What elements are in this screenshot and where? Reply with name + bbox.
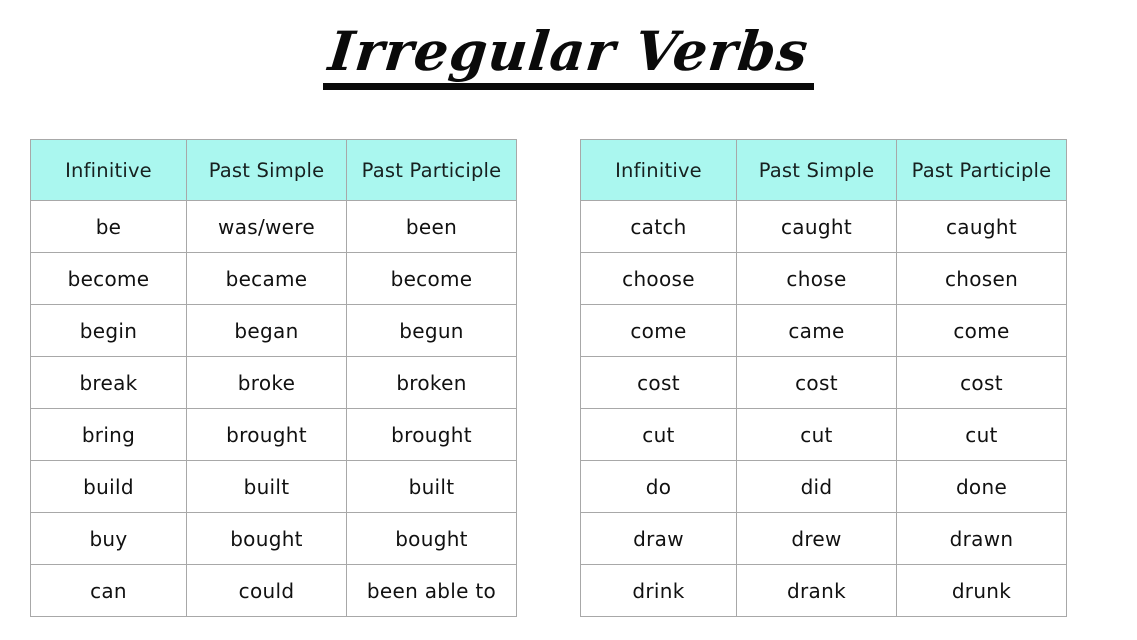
cell-past-simple: did xyxy=(737,461,897,513)
cell-past-participle: become xyxy=(347,253,517,305)
table-row: can could been able to xyxy=(31,565,517,617)
cell-infinitive: can xyxy=(31,565,187,617)
column-header-past-participle: Past Participle xyxy=(347,140,517,201)
table-row: cost cost cost xyxy=(581,357,1067,409)
table-row: cut cut cut xyxy=(581,409,1067,461)
page-title-underline xyxy=(323,83,814,90)
cell-past-simple: bought xyxy=(187,513,347,565)
cell-past-participle: drunk xyxy=(897,565,1067,617)
cell-past-simple: cut xyxy=(737,409,897,461)
table-row: break broke broken xyxy=(31,357,517,409)
cell-infinitive: cost xyxy=(581,357,737,409)
table-row: begin began begun xyxy=(31,305,517,357)
page-title-text: Irregular Verbs xyxy=(326,24,811,79)
cell-past-participle: brought xyxy=(347,409,517,461)
cell-infinitive: drink xyxy=(581,565,737,617)
cell-infinitive: begin xyxy=(31,305,187,357)
table-row: buy bought bought xyxy=(31,513,517,565)
cell-past-participle: cost xyxy=(897,357,1067,409)
cell-past-simple: cost xyxy=(737,357,897,409)
table-row: choose chose chosen xyxy=(581,253,1067,305)
cell-past-participle: built xyxy=(347,461,517,513)
cell-past-simple: drew xyxy=(737,513,897,565)
cell-past-participle: been able to xyxy=(347,565,517,617)
cell-past-participle: been xyxy=(347,201,517,253)
table-row: be was/were been xyxy=(31,201,517,253)
cell-past-simple: was/were xyxy=(187,201,347,253)
verb-tables-container: Infinitive Past Simple Past Participle b… xyxy=(0,139,1137,599)
table-row: drink drank drunk xyxy=(581,565,1067,617)
cell-past-participle: drawn xyxy=(897,513,1067,565)
verb-table-left: Infinitive Past Simple Past Participle b… xyxy=(30,139,517,617)
table-header-row: Infinitive Past Simple Past Participle xyxy=(31,140,517,201)
cell-infinitive: break xyxy=(31,357,187,409)
column-header-infinitive: Infinitive xyxy=(581,140,737,201)
cell-past-participle: bought xyxy=(347,513,517,565)
cell-infinitive: do xyxy=(581,461,737,513)
cell-past-simple: built xyxy=(187,461,347,513)
cell-past-participle: done xyxy=(897,461,1067,513)
cell-infinitive: cut xyxy=(581,409,737,461)
cell-past-simple: could xyxy=(187,565,347,617)
cell-past-participle: broken xyxy=(347,357,517,409)
cell-past-simple: drank xyxy=(737,565,897,617)
cell-infinitive: catch xyxy=(581,201,737,253)
cell-infinitive: come xyxy=(581,305,737,357)
cell-past-simple: caught xyxy=(737,201,897,253)
column-header-infinitive: Infinitive xyxy=(31,140,187,201)
cell-past-simple: came xyxy=(737,305,897,357)
cell-past-participle: chosen xyxy=(897,253,1067,305)
column-header-past-simple: Past Simple xyxy=(187,140,347,201)
cell-infinitive: draw xyxy=(581,513,737,565)
table-row: become became become xyxy=(31,253,517,305)
table-row: bring brought brought xyxy=(31,409,517,461)
column-header-past-participle: Past Participle xyxy=(897,140,1067,201)
cell-past-simple: began xyxy=(187,305,347,357)
cell-past-simple: chose xyxy=(737,253,897,305)
table-row: come came come xyxy=(581,305,1067,357)
cell-past-participle: come xyxy=(897,305,1067,357)
page-title-inner: Irregular Verbs xyxy=(323,24,814,93)
table-header-row: Infinitive Past Simple Past Participle xyxy=(581,140,1067,201)
cell-infinitive: become xyxy=(31,253,187,305)
table-row: catch caught caught xyxy=(581,201,1067,253)
cell-infinitive: build xyxy=(31,461,187,513)
table-row: do did done xyxy=(581,461,1067,513)
verb-table-right: Infinitive Past Simple Past Participle c… xyxy=(580,139,1067,617)
cell-past-simple: brought xyxy=(187,409,347,461)
cell-infinitive: bring xyxy=(31,409,187,461)
cell-past-participle: cut xyxy=(897,409,1067,461)
cell-past-simple: became xyxy=(187,253,347,305)
cell-infinitive: buy xyxy=(31,513,187,565)
cell-past-simple: broke xyxy=(187,357,347,409)
cell-infinitive: be xyxy=(31,201,187,253)
table-row: build built built xyxy=(31,461,517,513)
table-row: draw drew drawn xyxy=(581,513,1067,565)
page-title: Irregular Verbs xyxy=(0,24,1137,93)
cell-infinitive: choose xyxy=(581,253,737,305)
cell-past-participle: caught xyxy=(897,201,1067,253)
column-header-past-simple: Past Simple xyxy=(737,140,897,201)
cell-past-participle: begun xyxy=(347,305,517,357)
